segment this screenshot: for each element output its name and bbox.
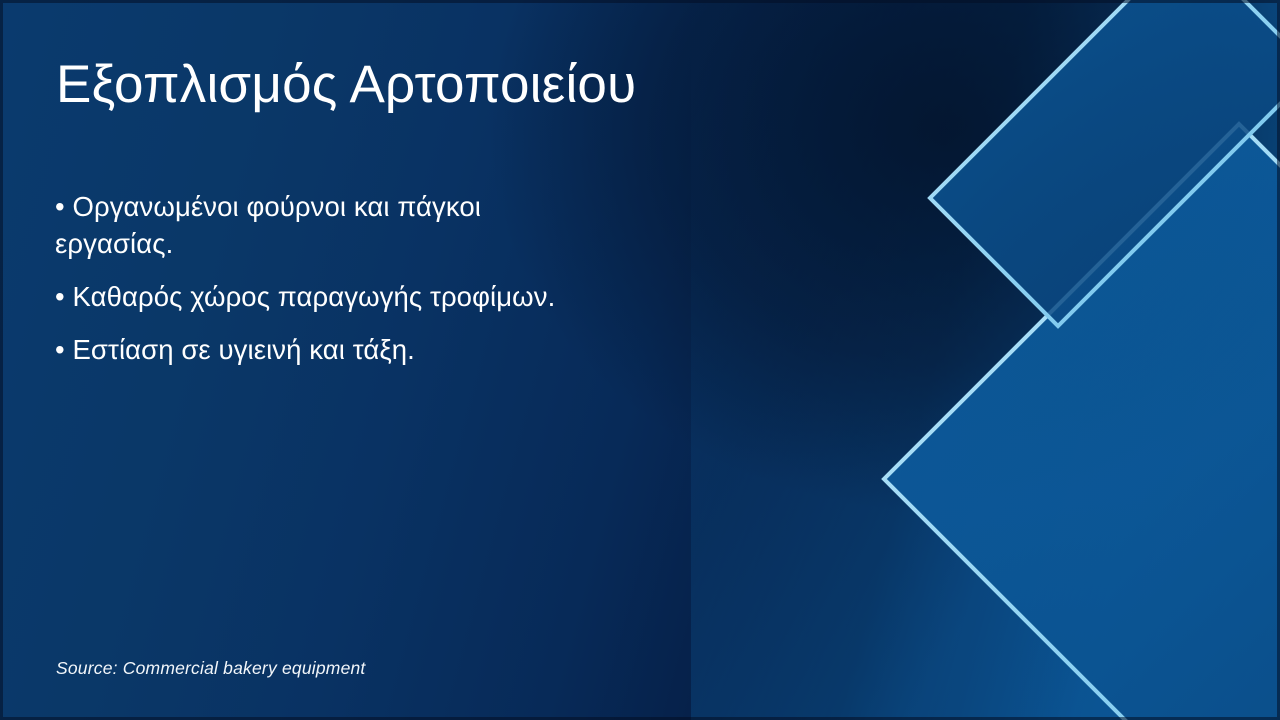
bullet-item: • Εστίαση σε υγιεινή και τάξη. [55, 331, 585, 368]
slide-bullet-list: • Οργανωμένοι φούρνοι και πάγκοι εργασία… [55, 188, 585, 368]
bullet-item: • Οργανωμένοι φούρνοι και πάγκοι εργασία… [55, 188, 585, 262]
source-caption: Source: Commercial bakery equipment [56, 658, 366, 679]
presentation-slide: Εξοπλισμός Αρτοποιείου • Οργανωμένοι φού… [0, 0, 1280, 720]
slide-title: Εξοπλισμός Αρτοποιείου [56, 56, 876, 113]
bullet-item: • Καθαρός χώρος παραγωγής τροφίμων. [55, 278, 585, 315]
slide-content: Εξοπλισμός Αρτοποιείου • Οργανωμένοι φού… [0, 0, 1280, 720]
